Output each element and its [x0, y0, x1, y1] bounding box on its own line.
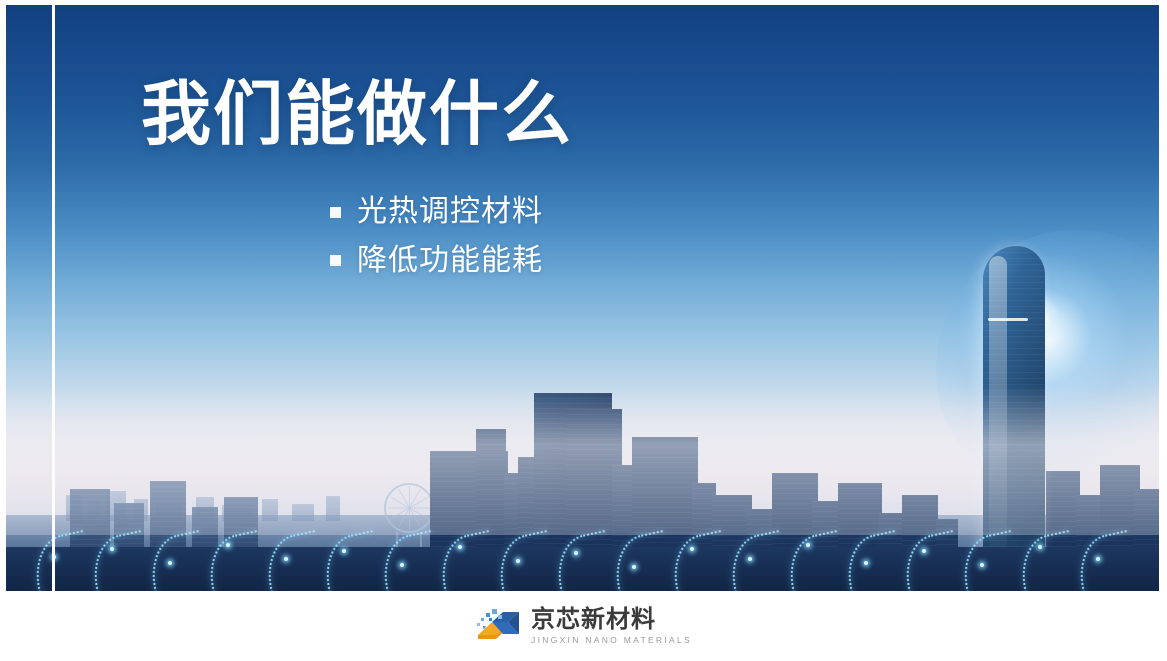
company-name-en: JINGXIN NANO MATERIALS [531, 635, 692, 645]
company-name-cn: 京芯新材料 [531, 607, 692, 632]
square-bullet-icon [330, 255, 341, 266]
list-item: 光热调控材料 [330, 192, 543, 233]
slide-title: 我们能做什么 [141, 78, 573, 152]
skyscraper-light-band [988, 318, 1028, 321]
slide-bullet-list: 光热调控材料 降低功能能耗 [330, 192, 543, 289]
logo-text-block: 京芯新材料 JINGXIN NANO MATERIALS [531, 607, 692, 645]
foreground-ground [6, 547, 1159, 591]
bullet-label: 光热调控材料 [357, 192, 543, 233]
square-bullet-icon [330, 207, 341, 218]
curved-skyscraper [983, 246, 1045, 591]
bullet-label: 降低功能能耗 [357, 241, 543, 282]
ferris-wheel-icon [384, 483, 434, 533]
list-item: 降低功能能耗 [330, 241, 543, 282]
left-vertical-divider [52, 5, 55, 591]
presentation-slide: 我们能做什么 光热调控材料 降低功能能耗 [0, 0, 1167, 661]
company-logo: 京芯新材料 JINGXIN NANO MATERIALS [475, 607, 692, 645]
slide-footer: 京芯新材料 JINGXIN NANO MATERIALS [0, 591, 1167, 661]
city-skyline [6, 361, 1159, 591]
jingxin-logo-mark-icon [475, 607, 521, 645]
